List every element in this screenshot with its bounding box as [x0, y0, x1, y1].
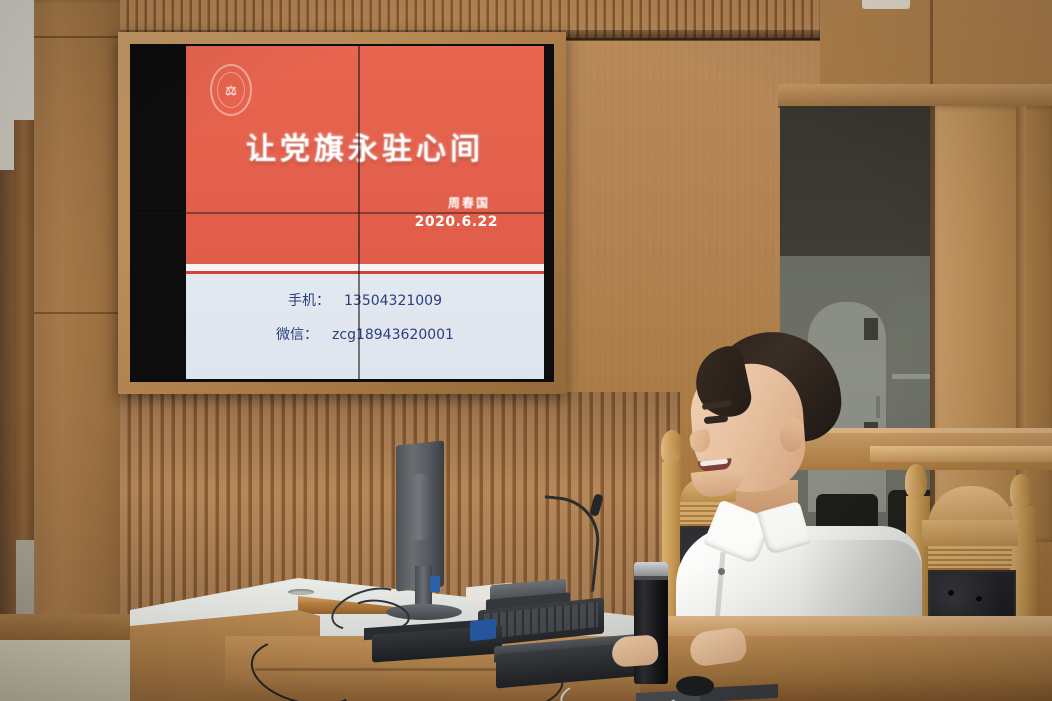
video-wall-seam-horizontal	[130, 212, 554, 214]
floor-strip	[0, 640, 150, 701]
thermos-cap	[634, 562, 668, 576]
desk-cable-grommet	[288, 589, 314, 595]
slide-date: 2020.6.22	[415, 214, 498, 230]
contact-phone-row: 手机：13504321009	[186, 290, 544, 310]
left-wall-pillar	[14, 120, 36, 540]
slide-white-divider	[186, 264, 544, 271]
shirt-button	[718, 568, 725, 575]
contact-wechat-row: 微信：zcg18943620001	[186, 324, 544, 344]
contact-wechat-label: 微信：	[276, 324, 318, 344]
contact-phone-label: 手机：	[288, 290, 330, 310]
door-header-trim	[778, 84, 1052, 108]
left-hand	[611, 634, 659, 667]
emblem-glyph: ⚖	[225, 84, 237, 97]
photo-scene: ⚖ 让党旗永驻心间 周春国 2020.6.22 手机：13504321009 微…	[0, 0, 1052, 701]
monitor-back-housing	[404, 472, 434, 541]
left-wall-pillar-edge	[0, 170, 16, 640]
chair-slats	[928, 546, 1012, 568]
court-emblem-icon: ⚖	[210, 64, 252, 116]
panel-seam	[34, 312, 126, 314]
left-wood-panel	[34, 0, 126, 660]
leather-tuft	[948, 590, 954, 596]
monitor-cable-plug	[430, 576, 440, 592]
left-baseboard	[0, 614, 150, 642]
slide-author: 周春国	[448, 194, 490, 211]
slide-title: 让党旗永驻心间	[186, 124, 544, 168]
panel-seam	[34, 36, 126, 38]
ceiling-light	[862, 0, 910, 9]
court-emblem-inner: ⚖	[217, 72, 245, 108]
leather-tuft	[976, 596, 982, 602]
chair-finial	[1010, 474, 1032, 508]
contact-wechat-value: zcg18943620001	[332, 327, 454, 343]
upper-right-panel	[820, 0, 1052, 96]
thermos-ring	[634, 576, 668, 580]
vga-connector	[470, 619, 496, 642]
